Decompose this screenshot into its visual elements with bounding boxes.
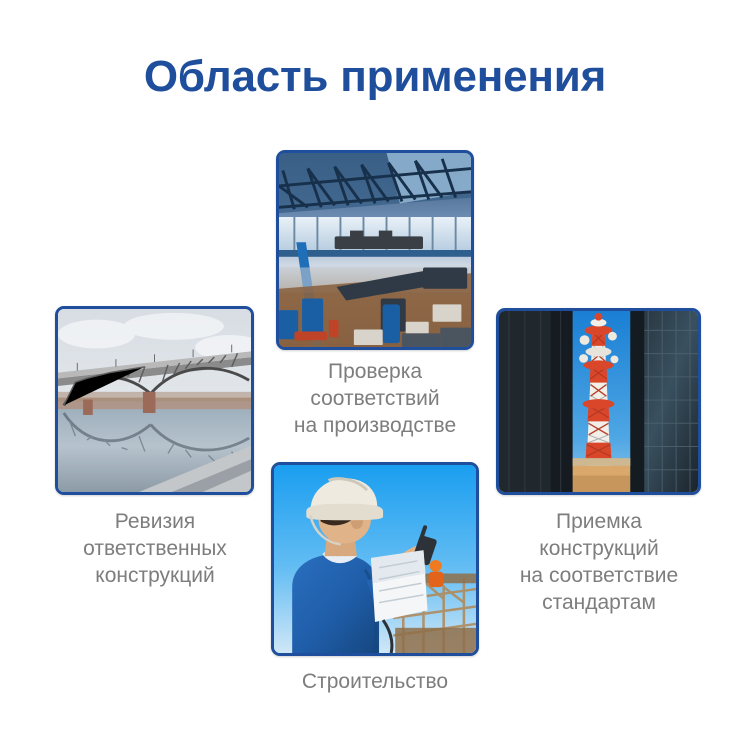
steel-arch-bridge-photo[interactable] <box>55 306 254 495</box>
slide-canvas: Область применения <box>0 0 750 750</box>
card-acceptance-caption: Приемка конструкций на соответствие стан… <box>472 508 726 616</box>
factory-production-hall-photo[interactable] <box>276 150 474 350</box>
card-revision-caption: Ревизия ответственных конструкций <box>29 508 281 589</box>
construction-worker-photo[interactable] <box>271 462 479 656</box>
page-title: Область применения <box>0 50 750 104</box>
card-production-caption: Проверка соответствий на производстве <box>249 358 501 439</box>
red-white-lattice-tower-photo[interactable] <box>496 308 701 495</box>
card-construction-caption: Строительство <box>252 668 498 695</box>
